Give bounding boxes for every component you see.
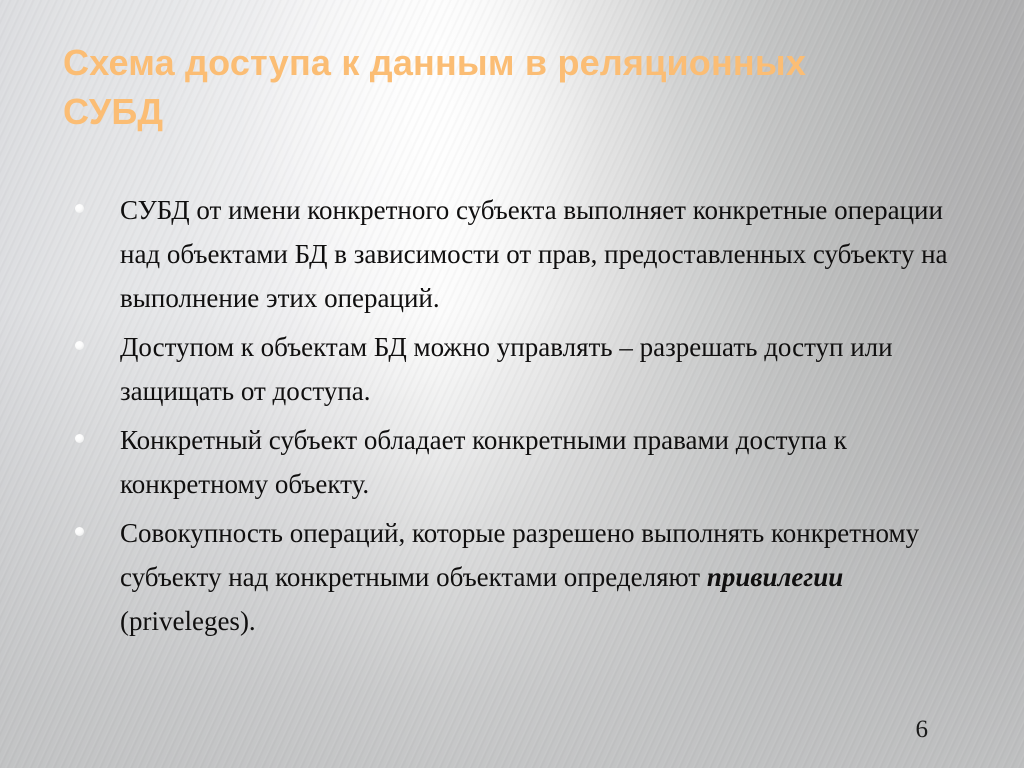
list-item-text: СУБД от имени конкретного субъекта выпол… [120, 188, 976, 320]
slide-title: Схема доступа к данным в реляционных СУБ… [63, 38, 853, 136]
bullet-dot-icon [75, 204, 84, 213]
bullet-dot-icon [75, 341, 84, 350]
list-item: Конкретный субъект обладает конкретными … [0, 418, 1024, 506]
slide-body-bullet-list: СУБД от имени конкретного субъекта выпол… [0, 188, 1024, 648]
list-item-text: Конкретный субъект обладает конкретными … [120, 418, 976, 506]
bullet-dot-icon [75, 434, 84, 443]
list-item: Доступом к объектам БД можно управлять –… [0, 325, 1024, 413]
list-item: Совокупность операций, которые разрешено… [0, 511, 1024, 643]
list-item-text: Совокупность операций, которые разрешено… [120, 511, 976, 643]
list-item-text-tail: (priveleges). [120, 606, 256, 636]
bullet-dot-icon [75, 527, 84, 536]
list-item-text: Доступом к объектам БД можно управлять –… [120, 325, 976, 413]
page-number: 6 [916, 716, 929, 744]
list-item-emphasis-term: привилегии [707, 562, 843, 592]
slide-canvas: Схема доступа к данным в реляционных СУБ… [0, 0, 1024, 768]
list-item: СУБД от имени конкретного субъекта выпол… [0, 188, 1024, 320]
